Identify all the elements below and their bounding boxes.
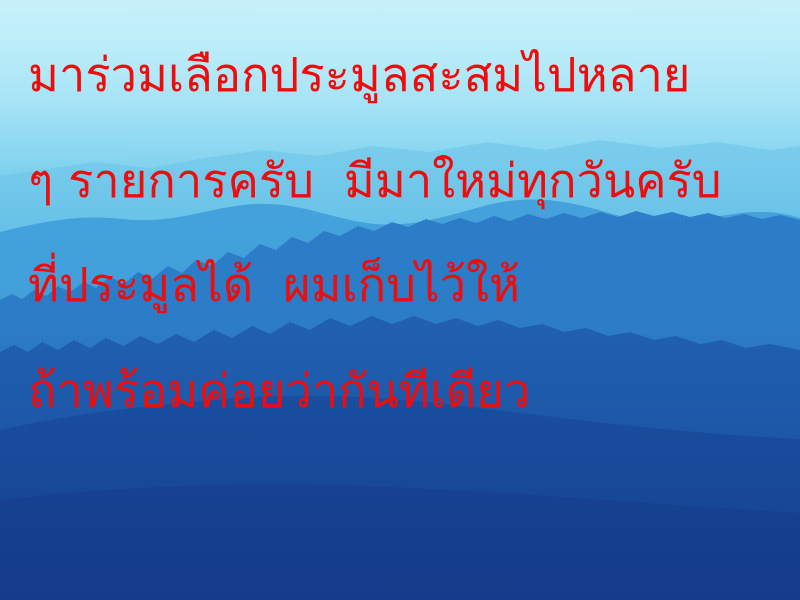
caption-line-2: ๆ รายการครับ มีมาใหม่ทุกวันครับ xyxy=(28,158,722,205)
caption-overlay: มาร่วมเลือกประมูลสะสมไปหลาย ๆ รายการครับ… xyxy=(0,0,800,600)
caption-line-1: มาร่วมเลือกประมูลสะสมไปหลาย xyxy=(28,52,690,99)
image-canvas: มาร่วมเลือกประมูลสะสมไปหลาย ๆ รายการครับ… xyxy=(0,0,800,600)
caption-line-3: ที่ประมูลได้ ผมเก็บไว้ให้ xyxy=(28,262,520,309)
caption-line-4: ถ้าพร้อมค่อยว่ากันทีเดียว xyxy=(28,368,530,415)
